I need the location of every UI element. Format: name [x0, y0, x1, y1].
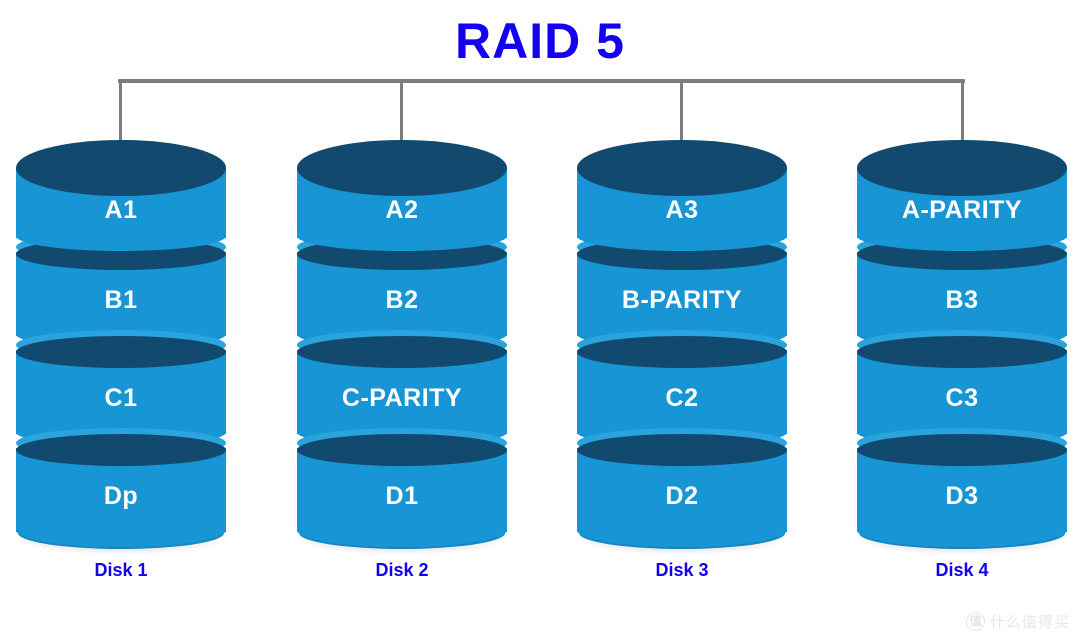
- watermark: 值 什么值得买: [966, 611, 1070, 632]
- disk-block-2-3[interactable]: C-PARITY: [297, 336, 507, 434]
- cylinder-divider-band: [577, 336, 787, 368]
- disk-block-4-1[interactable]: A-PARITY: [857, 140, 1067, 238]
- block-label: D1: [297, 482, 507, 511]
- cylinder-divider-band: [297, 434, 507, 466]
- block-label: A2: [297, 196, 507, 225]
- disk-column-1[interactable]: A1 B1 C1 Dp Disk 1: [16, 140, 226, 550]
- block-label: A1: [16, 196, 226, 225]
- disk-block-4-2[interactable]: B3: [857, 238, 1067, 336]
- cylinder-top-cap: [16, 140, 226, 196]
- cylinder-bottom: [297, 513, 507, 547]
- block-label: A-PARITY: [857, 196, 1067, 225]
- raid5-diagram: RAID 5 A1 B1 C1 Dp D: [0, 0, 1080, 640]
- block-label: C-PARITY: [297, 384, 507, 413]
- disk-block-3-2[interactable]: B-PARITY: [577, 238, 787, 336]
- disk-block-1-1[interactable]: A1: [16, 140, 226, 238]
- block-label: B2: [297, 286, 507, 315]
- cylinder-bottom: [857, 513, 1067, 547]
- block-label: C1: [16, 384, 226, 413]
- block-label: A3: [577, 196, 787, 225]
- block-label: B-PARITY: [577, 286, 787, 315]
- disk-block-3-1[interactable]: A3: [577, 140, 787, 238]
- cylinder-bottom: [577, 513, 787, 547]
- cylinder-bottom: [16, 513, 226, 547]
- cylinder-lip: [297, 221, 507, 251]
- disk-block-1-4[interactable]: Dp: [16, 434, 226, 532]
- disk-block-3-4[interactable]: D2: [577, 434, 787, 532]
- cylinder-divider-band: [577, 434, 787, 466]
- disk-column-4[interactable]: A-PARITY B3 C3 D3 Disk 4: [857, 140, 1067, 550]
- disk-name-label: Disk 4: [857, 560, 1067, 581]
- disk-block-4-3[interactable]: C3: [857, 336, 1067, 434]
- block-label: Dp: [16, 482, 226, 511]
- cylinder-divider-band: [857, 336, 1067, 368]
- cylinder-lip: [857, 221, 1067, 251]
- block-label: D3: [857, 482, 1067, 511]
- cylinder-divider-band: [297, 336, 507, 368]
- disk-block-1-3[interactable]: C1: [16, 336, 226, 434]
- page-title: RAID 5: [0, 16, 1080, 66]
- cylinder-top-cap: [857, 140, 1067, 196]
- disk-column-3[interactable]: A3 B-PARITY C2 D2 Disk 3: [577, 140, 787, 550]
- cylinder-lip: [577, 221, 787, 251]
- cylinder-divider-band: [857, 434, 1067, 466]
- cylinder-top-cap: [297, 140, 507, 196]
- block-label: C2: [577, 384, 787, 413]
- disk-name-label: Disk 2: [297, 560, 507, 581]
- raid-controller-bus: [118, 79, 965, 83]
- block-label: C3: [857, 384, 1067, 413]
- cylinder-lip: [16, 221, 226, 251]
- cylinder-divider-band: [16, 434, 226, 466]
- disk-name-label: Disk 3: [577, 560, 787, 581]
- watermark-text: 什么值得买: [990, 611, 1070, 632]
- block-label: D2: [577, 482, 787, 511]
- disk-block-1-2[interactable]: B1: [16, 238, 226, 336]
- block-label: B3: [857, 286, 1067, 315]
- disk-name-label: Disk 1: [16, 560, 226, 581]
- disk-column-2[interactable]: A2 B2 C-PARITY D1 Disk 2: [297, 140, 507, 550]
- disk-block-2-1[interactable]: A2: [297, 140, 507, 238]
- block-label: B1: [16, 286, 226, 315]
- disk-block-4-4[interactable]: D3: [857, 434, 1067, 532]
- disk-block-2-2[interactable]: B2: [297, 238, 507, 336]
- cylinder-divider-band: [16, 336, 226, 368]
- watermark-logo-icon: 值: [966, 612, 985, 631]
- disk-block-2-4[interactable]: D1: [297, 434, 507, 532]
- cylinder-top-cap: [577, 140, 787, 196]
- disk-block-3-3[interactable]: C2: [577, 336, 787, 434]
